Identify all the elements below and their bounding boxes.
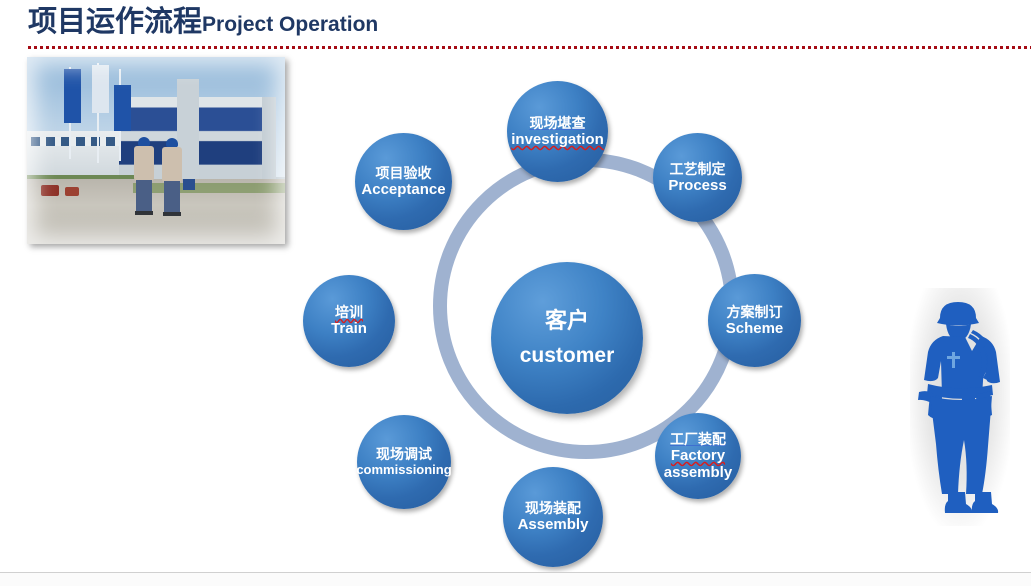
node-acceptance-label-english: Acceptance	[361, 181, 445, 198]
center-node-label-english: customer	[520, 344, 615, 368]
node-factory-assembly-label-english-line2: assembly	[664, 464, 732, 481]
node-factory-assembly-label-chinese: 工厂装配	[664, 431, 732, 447]
node-train[interactable]: 培训 Train	[303, 275, 395, 367]
worker-silhouette-image	[910, 288, 1010, 526]
node-acceptance[interactable]: 项目验收 Acceptance	[355, 133, 452, 230]
page-title-chinese: 项目运作流程	[28, 6, 202, 38]
node-site-assembly[interactable]: 现场装配 Assembly	[503, 467, 603, 567]
node-site-assembly-label-chinese: 现场装配	[518, 500, 589, 516]
center-node-customer[interactable]: 客户 customer	[491, 262, 643, 414]
bottom-band	[0, 573, 1031, 586]
node-commissioning[interactable]: 现场调试 commissioning	[357, 415, 451, 509]
node-scheme[interactable]: 方案制订 Scheme	[708, 274, 801, 367]
node-factory-assembly[interactable]: 工厂装配 Factory assembly	[655, 413, 741, 499]
node-investigation[interactable]: 现场堪查 investigation	[507, 81, 608, 182]
factory-photo	[27, 57, 285, 244]
node-train-label-chinese: 培训	[331, 304, 367, 320]
node-commissioning-label-english: commissioning	[356, 463, 451, 478]
node-investigation-label-chinese: 现场堪查	[511, 115, 604, 131]
node-scheme-label-english: Scheme	[726, 320, 784, 337]
process-cycle-diagram: 客户 customer 现场堪查 investigation 工艺制定 Proc…	[286, 56, 886, 571]
node-process-label-english: Process	[668, 177, 726, 194]
node-process[interactable]: 工艺制定 Process	[653, 133, 742, 222]
slide-header: 项目运作流程Project Operation	[0, 0, 1031, 56]
worker-silhouette-icon	[910, 288, 1010, 526]
node-investigation-label-english: investigation	[511, 131, 604, 148]
photo-vignette	[27, 57, 285, 244]
page-title-english: Project Operation	[202, 13, 378, 36]
node-scheme-label-chinese: 方案制订	[726, 304, 784, 320]
node-train-label-english: Train	[331, 320, 367, 337]
center-node-label-chinese: 客户	[520, 308, 615, 333]
node-process-label-chinese: 工艺制定	[668, 161, 726, 177]
node-factory-assembly-label-english: Factory	[664, 447, 732, 464]
node-acceptance-label-chinese: 项目验收	[361, 165, 445, 181]
node-site-assembly-label-english: Assembly	[518, 516, 589, 533]
node-commissioning-label-chinese: 现场调试	[356, 446, 451, 462]
page-title: 项目运作流程Project Operation	[28, 8, 378, 37]
title-divider-dotted-rule	[28, 46, 1031, 49]
